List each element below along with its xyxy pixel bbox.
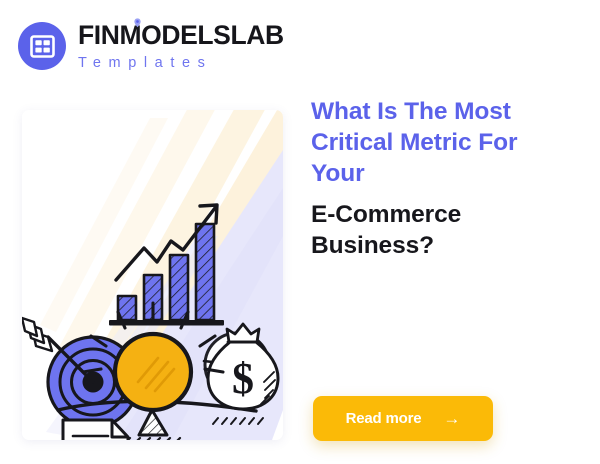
svg-text:$: $ — [232, 354, 254, 403]
brand-text: FINMODELSLAB Templates — [78, 22, 284, 70]
page-title: What Is The Most Critical Metric For You… — [311, 96, 573, 189]
read-more-button[interactable]: Read more → — [313, 396, 493, 441]
brand-logo[interactable]: FINMODELSLAB Templates — [18, 22, 284, 70]
business-metrics-illustration: $ — [22, 110, 283, 440]
brand-tagline: Templates — [78, 56, 284, 71]
wordmark-row: FINMODELSLAB — [78, 22, 284, 49]
text-column: What Is The Most Critical Metric For You… — [311, 96, 573, 261]
arrow-right-icon: → — [443, 410, 460, 427]
brand-wordmark: FINMODELSLAB — [78, 20, 284, 50]
grid-squares-icon — [18, 22, 66, 70]
promo-card: FINMODELSLAB Templates — [0, 0, 600, 464]
location-pin-icon — [134, 18, 141, 31]
page-subtitle: E-Commerce Business? — [311, 199, 573, 261]
read-more-label: Read more — [346, 410, 422, 427]
